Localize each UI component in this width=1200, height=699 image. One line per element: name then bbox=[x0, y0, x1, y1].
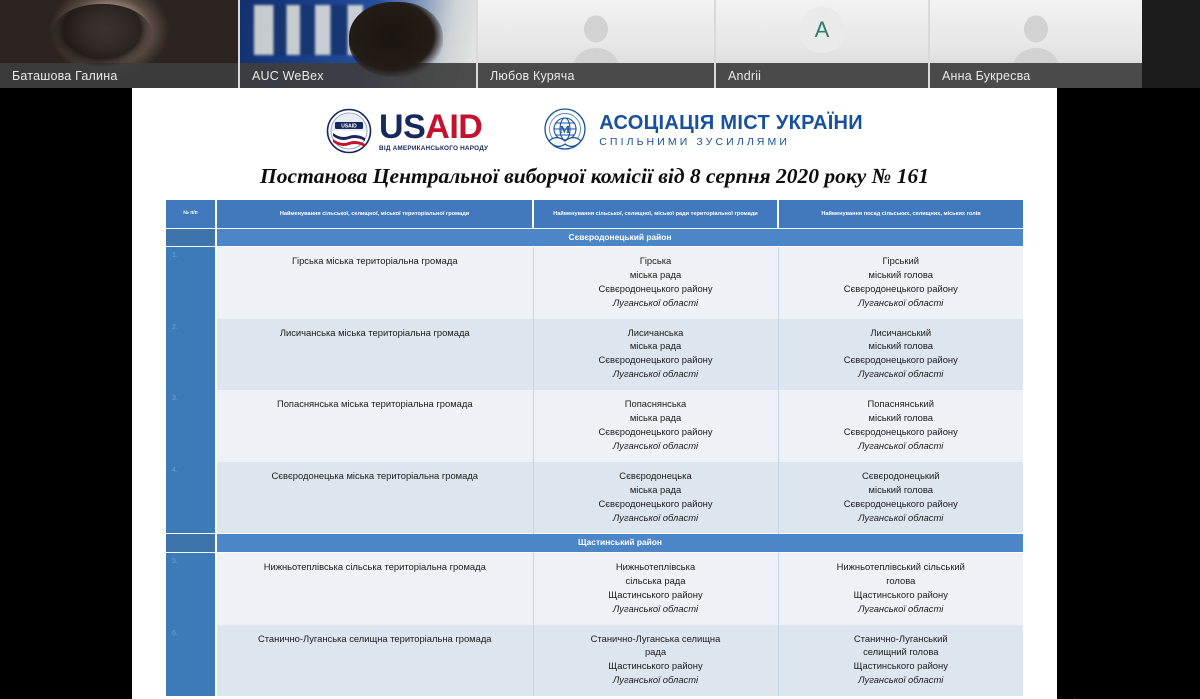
usaid-tagline: ВІД АМЕРИКАНСЬКОГО НАРОДУ bbox=[379, 146, 488, 152]
presentation-slide: USAID USAID ВІД АМЕРИКАНСЬКОГО НАРОДУ bbox=[132, 88, 1057, 699]
participant-tile[interactable]: Баташова Галина bbox=[0, 0, 240, 88]
head-title-cell: Попаснянськийміський головаСєвєродонецьк… bbox=[778, 390, 1023, 462]
participant-filmstrip: Баташова ГалинаAUC WeBexЛюбов КурячаAAnd… bbox=[0, 0, 1200, 88]
svg-text:USAID: USAID bbox=[341, 124, 357, 130]
district-header-row: Щастинський район bbox=[166, 534, 1023, 552]
auc-logo: М АСОЦІАЦІЯ МІСТ УКРАЇНИ СПІЛЬНИМИ ЗУСИЛ… bbox=[540, 106, 863, 156]
district-name: Сєвєродонецький район bbox=[216, 228, 1023, 246]
council-name-cell: Станично-Луганська селищнарадаЩастинсько… bbox=[533, 625, 778, 697]
council-name-cell: Лисичанськаміська радаСєвєродонецького р… bbox=[533, 319, 778, 391]
table-row[interactable]: 5.Нижньотеплівська сільська територіальн… bbox=[166, 552, 1023, 624]
council-name-cell: Сєвєродонецькаміська радаСєвєродонецьког… bbox=[533, 462, 778, 534]
district-header-row: Сєвєродонецький район bbox=[166, 228, 1023, 246]
slide-logos: USAID USAID ВІД АМЕРИКАНСЬКОГО НАРОДУ bbox=[132, 88, 1057, 160]
participant-tile[interactable]: AUC WeBex bbox=[240, 0, 478, 88]
table-row[interactable]: 4.Сєвєродонецька міська територіальна гр… bbox=[166, 462, 1023, 534]
hromada-registry-table: № п/пНайменування сільської, селищної, м… bbox=[166, 200, 1023, 696]
hromada-name-cell: Станично-Луганська селищна територіальна… bbox=[216, 625, 533, 697]
district-name: Щастинський район bbox=[216, 534, 1023, 552]
hromada-name-cell: Попаснянська міська територіальна громад… bbox=[216, 390, 533, 462]
table-row[interactable]: 1.Гірська міська територіальна громадаГі… bbox=[166, 246, 1023, 318]
council-name-cell: Гірськаміська радаСєвєродонецького район… bbox=[533, 246, 778, 318]
head-title-cell: Станично-Луганськийселищний головаЩастин… bbox=[778, 625, 1023, 697]
avatar: A bbox=[799, 7, 845, 53]
participant-tile[interactable]: Анна Букресва bbox=[930, 0, 1142, 88]
column-header: Найменування сільської, селищної, місько… bbox=[533, 200, 778, 228]
shared-screen-stage: USAID USAID ВІД АМЕРИКАНСЬКОГО НАРОДУ bbox=[0, 88, 1200, 699]
screen-capture: Баташова ГалинаAUC WeBexЛюбов КурячаAAnd… bbox=[0, 0, 1200, 699]
hromada-name-cell: Сєвєродонецька міська територіальна гром… bbox=[216, 462, 533, 534]
row-number: 5. bbox=[166, 552, 216, 624]
participant-name: Andrii bbox=[716, 63, 928, 88]
table-body: Сєвєродонецький район1.Гірська міська те… bbox=[166, 228, 1023, 696]
council-name-cell: Нижньотеплівськасільська радаЩастинськог… bbox=[533, 552, 778, 624]
row-number: 6. bbox=[166, 625, 216, 697]
usaid-wordmark: USAID bbox=[379, 110, 488, 144]
table-row[interactable]: 6.Станично-Луганська селищна територіаль… bbox=[166, 625, 1023, 697]
participant-name: Любов Куряча bbox=[478, 63, 714, 88]
council-name-cell: Попаснянськаміська радаСєвєродонецького … bbox=[533, 390, 778, 462]
hromada-name-cell: Гірська міська територіальна громада bbox=[216, 246, 533, 318]
head-title-cell: Нижньотеплівський сільськийголоваЩастинс… bbox=[778, 552, 1023, 624]
usaid-seal-icon: USAID bbox=[326, 108, 372, 154]
row-number: 1. bbox=[166, 246, 216, 318]
hromada-name-cell: Лисичанська міська територіальна громада bbox=[216, 319, 533, 391]
head-title-cell: Лисичанськийміський головаСєвєродонецько… bbox=[778, 319, 1023, 391]
table-row[interactable]: 3.Попаснянська міська територіальна гром… bbox=[166, 390, 1023, 462]
person-silhouette-icon bbox=[565, 9, 627, 71]
hromada-name-cell: Нижньотеплівська сільська територіальна … bbox=[216, 552, 533, 624]
participant-name: Баташова Галина bbox=[0, 63, 238, 88]
head-title-cell: Сєвєродонецькийміський головаСєвєродонец… bbox=[778, 462, 1023, 534]
auc-tagline: СПІЛЬНИМИ ЗУСИЛЛЯМИ bbox=[599, 137, 863, 148]
column-header: № п/п bbox=[166, 200, 216, 228]
row-number: 3. bbox=[166, 390, 216, 462]
column-header: Найменування посад сільських, селищних, … bbox=[778, 200, 1023, 228]
participant-tile[interactable]: AAndrii bbox=[716, 0, 930, 88]
row-number: 2. bbox=[166, 319, 216, 391]
usaid-logo: USAID USAID ВІД АМЕРИКАНСЬКОГО НАРОДУ bbox=[326, 108, 488, 154]
district-row-index bbox=[166, 534, 216, 552]
auc-seal-icon: М bbox=[540, 106, 590, 156]
participant-name: Анна Букресва bbox=[930, 63, 1142, 88]
row-number: 4. bbox=[166, 462, 216, 534]
table-row[interactable]: 2.Лисичанська міська територіальна грома… bbox=[166, 319, 1023, 391]
district-row-index bbox=[166, 228, 216, 246]
slide-title: Постанова Центральної виборчої комісії в… bbox=[132, 164, 1057, 189]
svg-text:М: М bbox=[560, 124, 571, 136]
table-head: № п/пНайменування сільської, селищної, м… bbox=[166, 200, 1023, 228]
head-title-cell: Гірськийміський головаСєвєродонецького р… bbox=[778, 246, 1023, 318]
participant-name: AUC WeBex bbox=[240, 63, 476, 88]
auc-title: АСОЦІАЦІЯ МІСТ УКРАЇНИ bbox=[599, 113, 863, 134]
person-silhouette-icon bbox=[1005, 9, 1067, 71]
participant-tile[interactable]: Любов Куряча bbox=[478, 0, 716, 88]
column-header: Найменування сільської, селищної, місько… bbox=[216, 200, 533, 228]
